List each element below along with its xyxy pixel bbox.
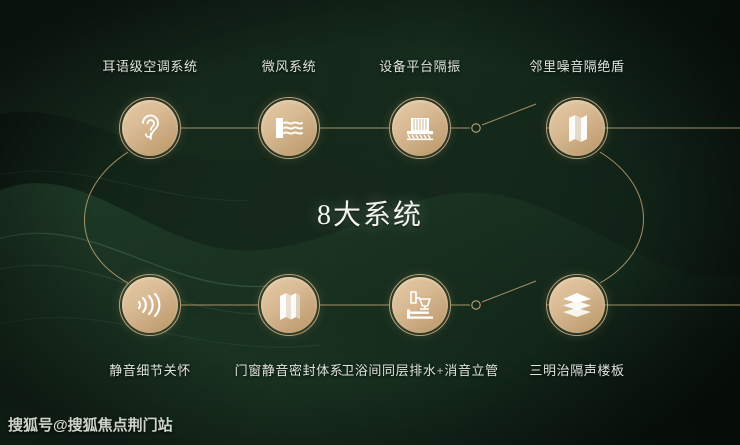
node-label-sandwich-floor-slab: 三明治隔声楼板 xyxy=(512,360,642,379)
node-disc xyxy=(261,100,317,156)
toilet-drain-icon xyxy=(403,289,437,321)
node-window-seal-system[interactable] xyxy=(258,274,320,336)
sound-wave-icon xyxy=(134,290,166,320)
node-disc xyxy=(549,277,605,333)
infographic-canvas: 8大系统 耳语级空调系统 xyxy=(0,0,740,445)
switch-node-bottom xyxy=(472,301,480,309)
node-breeze-system[interactable] xyxy=(258,97,320,159)
node-disc xyxy=(392,100,448,156)
node-disc xyxy=(392,277,448,333)
node-label-neighbor-noise-shield: 邻里噪音隔绝盾 xyxy=(497,56,657,75)
node-equipment-platform[interactable] xyxy=(389,97,451,159)
node-label-quiet-details: 静音细节关怀 xyxy=(85,360,215,379)
switch-node-top xyxy=(472,124,480,132)
ear-icon xyxy=(135,111,165,145)
node-disc xyxy=(122,277,178,333)
node-label-equipment-platform: 设备平台隔振 xyxy=(355,56,485,75)
node-neighbor-noise-shield[interactable] xyxy=(546,97,608,159)
node-whisper-ac[interactable] xyxy=(119,97,181,159)
node-quiet-details[interactable] xyxy=(119,274,181,336)
node-label-breeze-system: 微风系统 xyxy=(229,56,349,75)
page-title: 8大系统 xyxy=(0,193,740,233)
node-bathroom-drainage[interactable] xyxy=(389,274,451,336)
layered-slab-icon xyxy=(560,291,594,319)
node-disc xyxy=(549,100,605,156)
node-label-bathroom-drainage: 卫浴间同层排水+消音立管 xyxy=(335,360,505,379)
platform-icon xyxy=(403,113,437,143)
window-seal-icon xyxy=(274,289,304,321)
node-disc xyxy=(122,100,178,156)
breeze-icon xyxy=(272,113,306,143)
node-disc xyxy=(261,277,317,333)
node-label-whisper-ac: 耳语级空调系统 xyxy=(70,56,230,75)
watermark: 搜狐号@搜狐焦点荆门站 xyxy=(8,414,173,435)
node-sandwich-floor-slab[interactable] xyxy=(546,274,608,336)
shield-panel-icon xyxy=(562,112,592,144)
